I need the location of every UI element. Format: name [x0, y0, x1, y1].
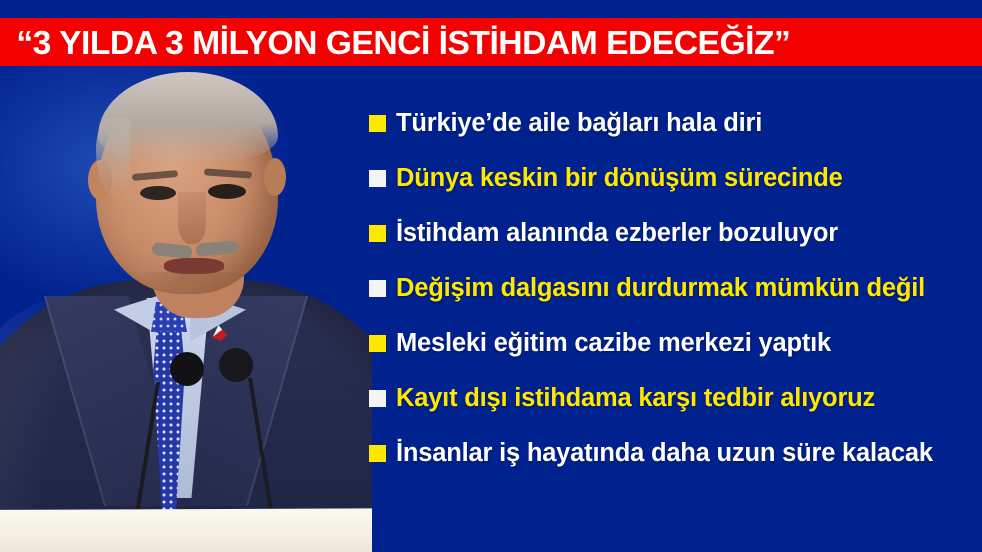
- bullet-text: İnsanlar iş hayatında daha uzun süre kal…: [396, 441, 933, 467]
- list-item: Kayıt dışı istihdama karşı tedbir alıyor…: [369, 371, 973, 426]
- bullet-marker-icon: [369, 335, 386, 352]
- ear-right: [264, 158, 286, 196]
- bullet-marker-icon: [369, 115, 386, 132]
- eye-right: [208, 184, 246, 199]
- list-item: Mesleki eğitim cazibe merkezi yaptık: [369, 316, 973, 371]
- news-graphic: “3 YILDA 3 MİLYON GENCİ İSTİHDAM EDECEĞİ…: [0, 0, 982, 552]
- bullet-text: Kayıt dışı istihdama karşı tedbir alıyor…: [396, 386, 875, 412]
- microphone-head-right: [219, 348, 253, 382]
- bullet-marker-icon: [369, 225, 386, 242]
- bullet-text: Değişim dalgasını durdurmak mümkün değil: [396, 276, 925, 302]
- podium: [0, 508, 372, 552]
- list-item: Dünya keskin bir dönüşüm sürecinde: [369, 151, 973, 206]
- speaker-photo: [0, 0, 372, 552]
- nose: [178, 192, 206, 244]
- bullet-marker-icon: [369, 445, 386, 462]
- headline-banner: “3 YILDA 3 MİLYON GENCİ İSTİHDAM EDECEĞİ…: [0, 18, 982, 66]
- bullet-marker-icon: [369, 280, 386, 297]
- eye-left: [140, 186, 176, 200]
- list-item: Türkiye’de aile bağları hala diri: [369, 96, 973, 151]
- list-item: Değişim dalgasını durdurmak mümkün değil: [369, 261, 973, 316]
- bullet-text: Mesleki eğitim cazibe merkezi yaptık: [396, 331, 831, 357]
- bullet-marker-icon: [369, 170, 386, 187]
- headline-text: “3 YILDA 3 MİLYON GENCİ İSTİHDAM EDECEĞİ…: [0, 26, 790, 59]
- bullet-list: Türkiye’de aile bağları hala diri Dünya …: [369, 96, 973, 481]
- list-item: İstihdam alanında ezberler bozuluyor: [369, 206, 973, 261]
- bullet-marker-icon: [369, 390, 386, 407]
- chin-shadow: [140, 272, 244, 296]
- microphone-head-left: [170, 352, 204, 386]
- bullet-text: İstihdam alanında ezberler bozuluyor: [396, 221, 838, 247]
- bullet-text: Dünya keskin bir dönüşüm sürecinde: [396, 166, 843, 192]
- list-item: İnsanlar iş hayatında daha uzun süre kal…: [369, 426, 973, 481]
- bullet-text: Türkiye’de aile bağları hala diri: [396, 111, 762, 137]
